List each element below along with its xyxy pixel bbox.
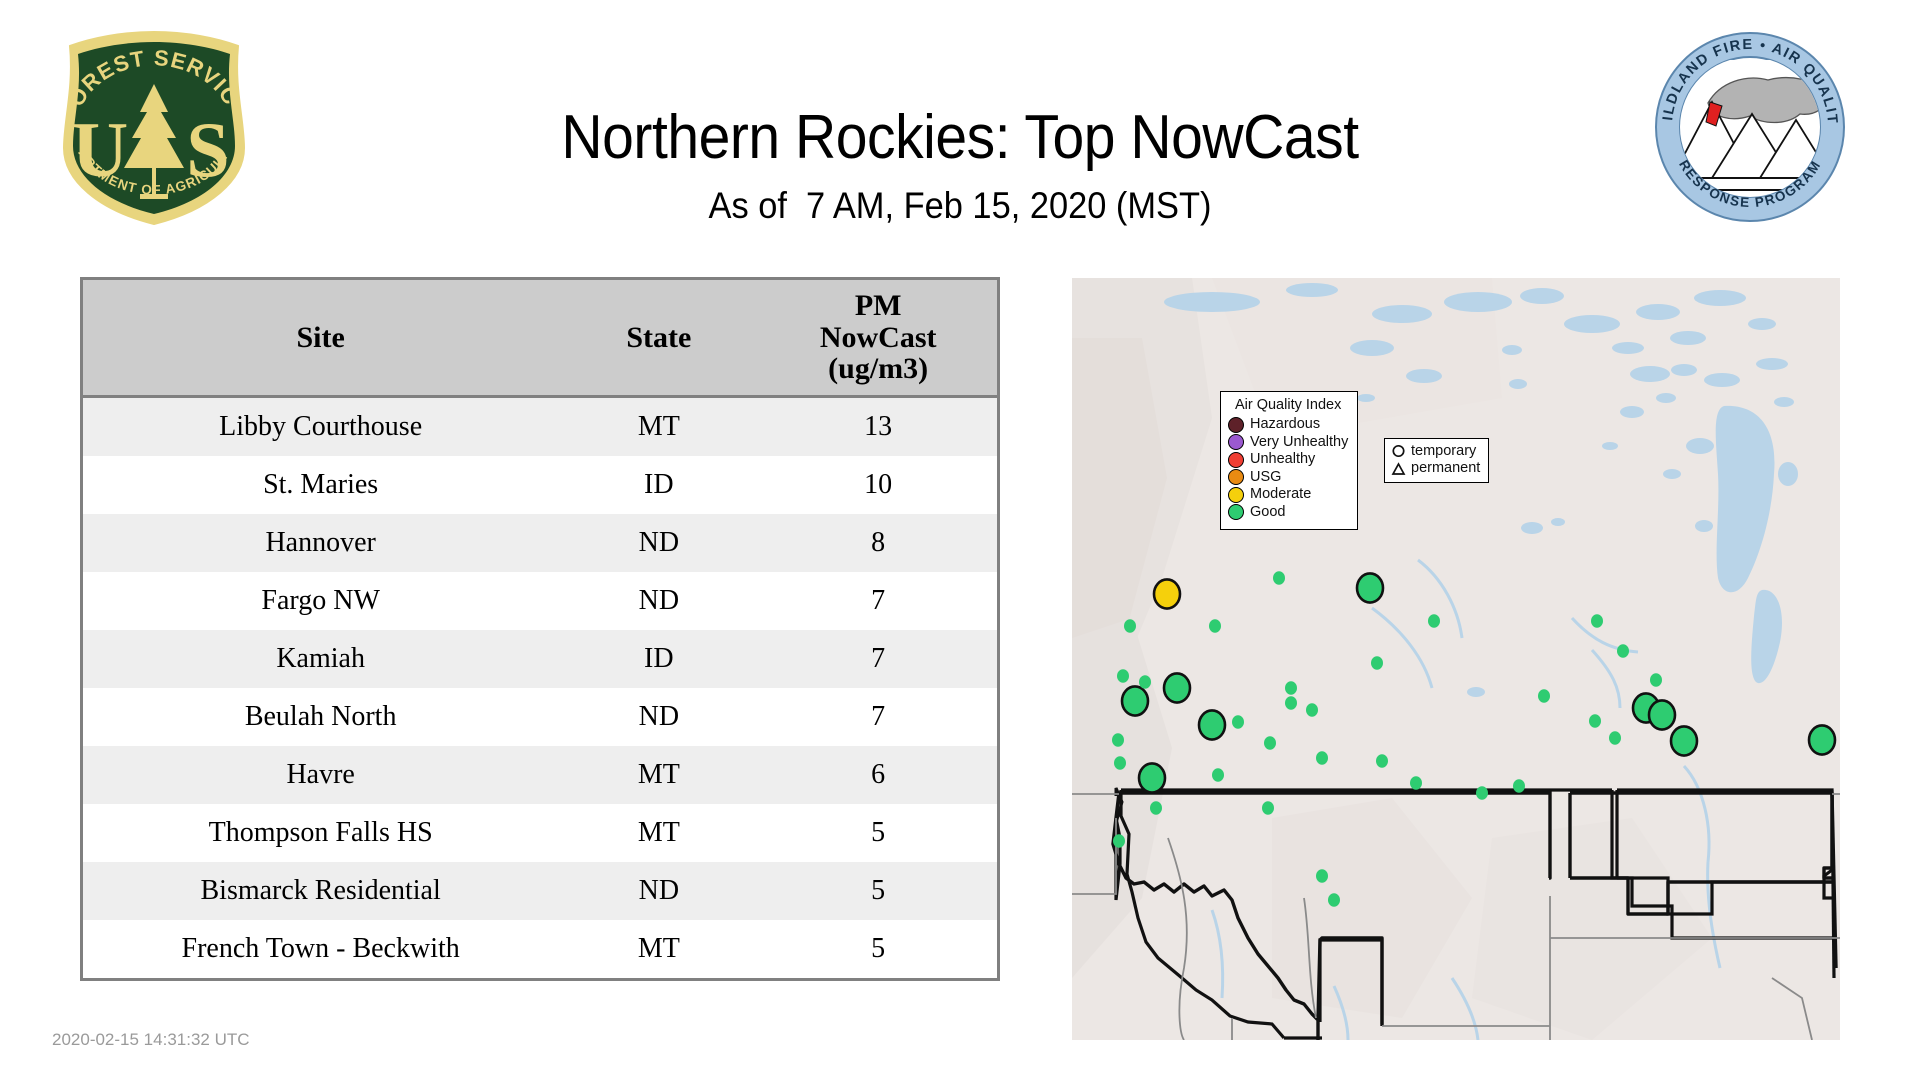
cell-site: Fargo NW xyxy=(83,572,558,630)
cell-site: Havre xyxy=(83,746,558,804)
cell-site: Libby Courthouse xyxy=(83,397,558,457)
aqi-legend-label: USG xyxy=(1250,470,1281,485)
cell-pm: 6 xyxy=(759,746,997,804)
monitor-marker[interactable] xyxy=(1285,681,1297,694)
aqi-legend-label: Very Unhealthy xyxy=(1250,435,1348,450)
monitor-marker[interactable] xyxy=(1316,869,1328,882)
aqi-swatch-icon xyxy=(1228,469,1244,485)
aqi-legend-title: Air Quality Index xyxy=(1228,398,1348,413)
site-type-legend: temporary permanent xyxy=(1384,438,1489,483)
monitor-marker[interactable] xyxy=(1164,673,1190,702)
column-header-state: State xyxy=(558,280,759,397)
cell-pm: 7 xyxy=(759,572,997,630)
monitor-marker[interactable] xyxy=(1264,736,1276,749)
table-body: Libby CourthouseMT13St. MariesID10Hannov… xyxy=(83,397,997,979)
monitor-marker[interactable] xyxy=(1306,703,1318,716)
monitor-marker[interactable] xyxy=(1410,776,1422,789)
circle-outline-icon xyxy=(1390,444,1407,460)
cell-site: Hannover xyxy=(83,514,558,572)
cell-pm: 8 xyxy=(759,514,997,572)
table-header: Site State PM NowCast (ug/m3) xyxy=(83,280,997,397)
nowcast-table-container: Site State PM NowCast (ug/m3) Libby Cour… xyxy=(80,277,1000,981)
monitor-marker[interactable] xyxy=(1209,619,1221,632)
legend-temporary-label: temporary xyxy=(1411,444,1476,459)
aqi-legend: Air Quality Index HazardousVery Unhealth… xyxy=(1220,391,1358,530)
aqi-swatch-icon xyxy=(1228,504,1244,520)
table-header-row: Site State PM NowCast (ug/m3) xyxy=(83,280,997,397)
monitor-marker[interactable] xyxy=(1124,619,1136,632)
table-row: Beulah NorthND7 xyxy=(83,688,997,746)
monitor-marker[interactable] xyxy=(1212,768,1224,781)
pm-header-line3: (ug/m3) xyxy=(759,353,997,385)
monitor-marker[interactable] xyxy=(1376,754,1388,767)
svg-text:U: U xyxy=(72,106,128,193)
monitor-marker[interactable] xyxy=(1538,689,1550,702)
aqi-legend-item: Unhealthy xyxy=(1228,452,1348,468)
table-row: French Town - BeckwithMT5 xyxy=(83,920,997,978)
wildland-fire-air-quality-logo: WILDLAND FIRE • AIR QUALITY RESPONSE PRO… xyxy=(1650,30,1850,225)
forest-service-shield-icon: FOREST SERVICE DEPARTMENT OF AGRICULTURE… xyxy=(52,28,257,228)
cell-state: MT xyxy=(558,804,759,862)
cell-state: MT xyxy=(558,746,759,804)
monitor-marker[interactable] xyxy=(1262,801,1274,814)
page-title: Northern Rockies: Top NowCast xyxy=(408,102,1512,173)
table-row: Libby CourthouseMT13 xyxy=(83,397,997,457)
aqi-legend-item: Hazardous xyxy=(1228,417,1348,433)
cell-state: MT xyxy=(558,920,759,978)
triangle-outline-icon xyxy=(1390,461,1407,477)
cell-site: Bismarck Residential xyxy=(83,862,558,920)
monitor-marker[interactable] xyxy=(1513,779,1525,792)
aqi-legend-item: Good xyxy=(1228,504,1348,520)
aqi-legend-label: Moderate xyxy=(1250,487,1311,502)
cell-state: ND xyxy=(558,572,759,630)
aqi-legend-label: Good xyxy=(1250,505,1285,520)
aqi-legend-items: HazardousVery UnhealthyUnhealthyUSGModer… xyxy=(1228,417,1348,521)
monitor-marker[interactable] xyxy=(1371,656,1383,669)
nowcast-table: Site State PM NowCast (ug/m3) Libby Cour… xyxy=(83,280,997,978)
cell-site: St. Maries xyxy=(83,456,558,514)
monitor-marker[interactable] xyxy=(1285,696,1297,709)
column-header-pm-nowcast: PM NowCast (ug/m3) xyxy=(759,280,997,397)
air-quality-map[interactable]: Air Quality Index HazardousVery Unhealth… xyxy=(1072,278,1840,1040)
cell-site: Thompson Falls HS xyxy=(83,804,558,862)
legend-permanent: permanent xyxy=(1390,461,1480,477)
cell-site: Kamiah xyxy=(83,630,558,688)
monitor-marker[interactable] xyxy=(1591,614,1603,627)
monitor-marker[interactable] xyxy=(1150,801,1162,814)
table-row: Fargo NWND7 xyxy=(83,572,997,630)
monitor-marker[interactable] xyxy=(1476,786,1488,799)
generated-timestamp: 2020-02-15 14:31:32 UTC xyxy=(52,1030,250,1050)
svg-text:S: S xyxy=(186,106,229,193)
aqi-legend-label: Hazardous xyxy=(1250,417,1320,432)
table-row: Bismarck ResidentialND5 xyxy=(83,862,997,920)
cell-site: French Town - Beckwith xyxy=(83,920,558,978)
monitor-marker[interactable] xyxy=(1199,710,1225,739)
aqi-swatch-icon xyxy=(1228,452,1244,468)
monitor-marker[interactable] xyxy=(1113,834,1125,847)
monitor-marker[interactable] xyxy=(1328,893,1340,906)
aqi-swatch-icon xyxy=(1228,487,1244,503)
cell-state: ID xyxy=(558,456,759,514)
monitor-marker[interactable] xyxy=(1139,675,1151,688)
monitor-marker[interactable] xyxy=(1589,714,1601,727)
cell-pm: 7 xyxy=(759,630,997,688)
monitor-marker[interactable] xyxy=(1809,725,1835,754)
map-canvas xyxy=(1072,278,1840,1040)
page-header: FOREST SERVICE DEPARTMENT OF AGRICULTURE… xyxy=(0,0,1920,270)
aqi-legend-item: Very Unhealthy xyxy=(1228,434,1348,450)
pm-header-line2: NowCast xyxy=(759,322,997,354)
cell-pm: 5 xyxy=(759,804,997,862)
monitor-marker[interactable] xyxy=(1154,579,1180,608)
monitor-marker[interactable] xyxy=(1232,715,1244,728)
pm-header-line1: PM xyxy=(759,290,997,322)
aqi-legend-label: Unhealthy xyxy=(1250,452,1315,467)
aqi-legend-item: USG xyxy=(1228,469,1348,485)
legend-temporary: temporary xyxy=(1390,444,1480,460)
cell-state: ND xyxy=(558,862,759,920)
cell-pm: 10 xyxy=(759,456,997,514)
table-row: HavreMT6 xyxy=(83,746,997,804)
page-subtitle: As of 7 AM, Feb 15, 2020 (MST) xyxy=(402,185,1518,227)
usda-forest-service-logo: FOREST SERVICE DEPARTMENT OF AGRICULTURE… xyxy=(52,28,257,228)
aqi-swatch-icon xyxy=(1228,417,1244,433)
column-header-site: Site xyxy=(83,280,558,397)
cell-pm: 7 xyxy=(759,688,997,746)
cell-state: ND xyxy=(558,688,759,746)
cell-state: ID xyxy=(558,630,759,688)
monitor-marker[interactable] xyxy=(1112,733,1124,746)
monitor-marker[interactable] xyxy=(1617,644,1629,657)
legend-permanent-label: permanent xyxy=(1411,461,1480,476)
monitor-marker[interactable] xyxy=(1428,614,1440,627)
monitor-marker[interactable] xyxy=(1650,673,1662,686)
cell-pm: 13 xyxy=(759,397,997,457)
monitor-marker[interactable] xyxy=(1117,669,1129,682)
cell-state: ND xyxy=(558,514,759,572)
monitor-marker[interactable] xyxy=(1114,756,1126,769)
cell-site: Beulah North xyxy=(83,688,558,746)
monitor-marker[interactable] xyxy=(1316,751,1328,764)
monitor-marker[interactable] xyxy=(1122,686,1148,715)
cell-pm: 5 xyxy=(759,920,997,978)
monitor-marker[interactable] xyxy=(1139,763,1165,792)
cell-state: MT xyxy=(558,397,759,457)
monitor-marker[interactable] xyxy=(1649,700,1675,729)
monitor-marker[interactable] xyxy=(1609,731,1621,744)
monitor-marker[interactable] xyxy=(1273,571,1285,584)
aqi-swatch-icon xyxy=(1228,434,1244,450)
cell-pm: 5 xyxy=(759,862,997,920)
table-row: St. MariesID10 xyxy=(83,456,997,514)
table-row: Thompson Falls HSMT5 xyxy=(83,804,997,862)
monitor-marker[interactable] xyxy=(1671,726,1697,755)
table-row: KamiahID7 xyxy=(83,630,997,688)
aqi-legend-item: Moderate xyxy=(1228,487,1348,503)
monitor-marker[interactable] xyxy=(1357,573,1383,602)
table-row: HannoverND8 xyxy=(83,514,997,572)
wfaqrp-seal-icon: WILDLAND FIRE • AIR QUALITY RESPONSE PRO… xyxy=(1650,30,1850,225)
